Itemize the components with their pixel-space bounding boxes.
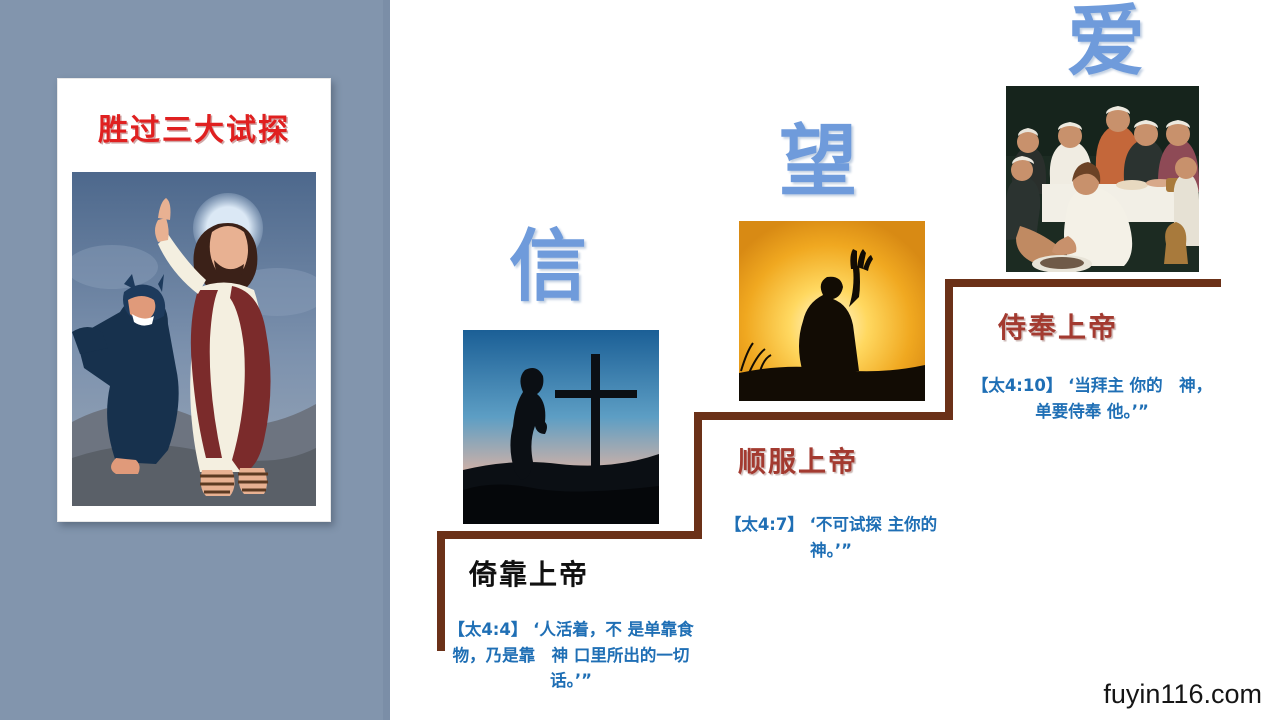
step-verse-1: 【太4:4】 ‘人活着，不 是单靠食物，乃是靠 神 口里所出的一切话。’”: [440, 617, 702, 694]
jesus-rebuking-satan-illustration: [72, 172, 316, 506]
step-verse-2: 【太4:7】 ‘不可试探 主你的 神。’”: [702, 512, 960, 563]
step-verse-1-ref: 【太4:4】: [448, 620, 527, 639]
step-verse-1-line-1: ‘人活着，不: [533, 620, 622, 639]
slide-canvas: 胜过三大试探: [0, 0, 1280, 720]
stair-tread-1: [437, 531, 702, 539]
cover-card: 胜过三大试探: [57, 78, 331, 522]
step-heading-3: 侍奉上帝: [998, 313, 1118, 344]
virtue-hope-glyph: 望: [779, 123, 857, 201]
stair-riser-2: [694, 412, 702, 539]
step-verse-2-line-1: ‘不可试探: [810, 515, 882, 534]
step-verse-2-ref: 【太4:7】: [725, 515, 804, 534]
virtue-love-glyph: 爱: [1067, 3, 1145, 81]
sidebar-edge-divider: [383, 0, 390, 720]
step-verse-1-line-3: 口里所出的一切话。’”: [550, 646, 689, 691]
photo-kneeling-silhouette-sunset: [739, 221, 925, 401]
step-heading-1: 倚靠上帝: [469, 560, 589, 591]
step-verse-3: 【太4:10】 ‘当拜主 你的 神，单要侍奉 他。’”: [968, 373, 1216, 424]
step-verse-3-ref: 【太4:10】: [972, 376, 1063, 395]
photo-praying-silhouette-cross: [463, 330, 659, 524]
stair-tread-2: [694, 412, 953, 420]
stair-riser-3: [945, 279, 953, 420]
virtue-faith-glyph: 信: [509, 228, 587, 306]
step-heading-2: 顺服上帝: [738, 447, 858, 478]
photo-jesus-washing-feet-painting: [1006, 86, 1199, 272]
step-verse-3-line-3: 他。’”: [1107, 402, 1149, 421]
site-watermark: fuyin116.com: [1103, 679, 1262, 710]
step-verse-3-line-1: ‘当拜主: [1068, 376, 1124, 395]
stair-tread-3: [945, 279, 1221, 287]
page-title: 胜过三大试探: [58, 105, 330, 149]
